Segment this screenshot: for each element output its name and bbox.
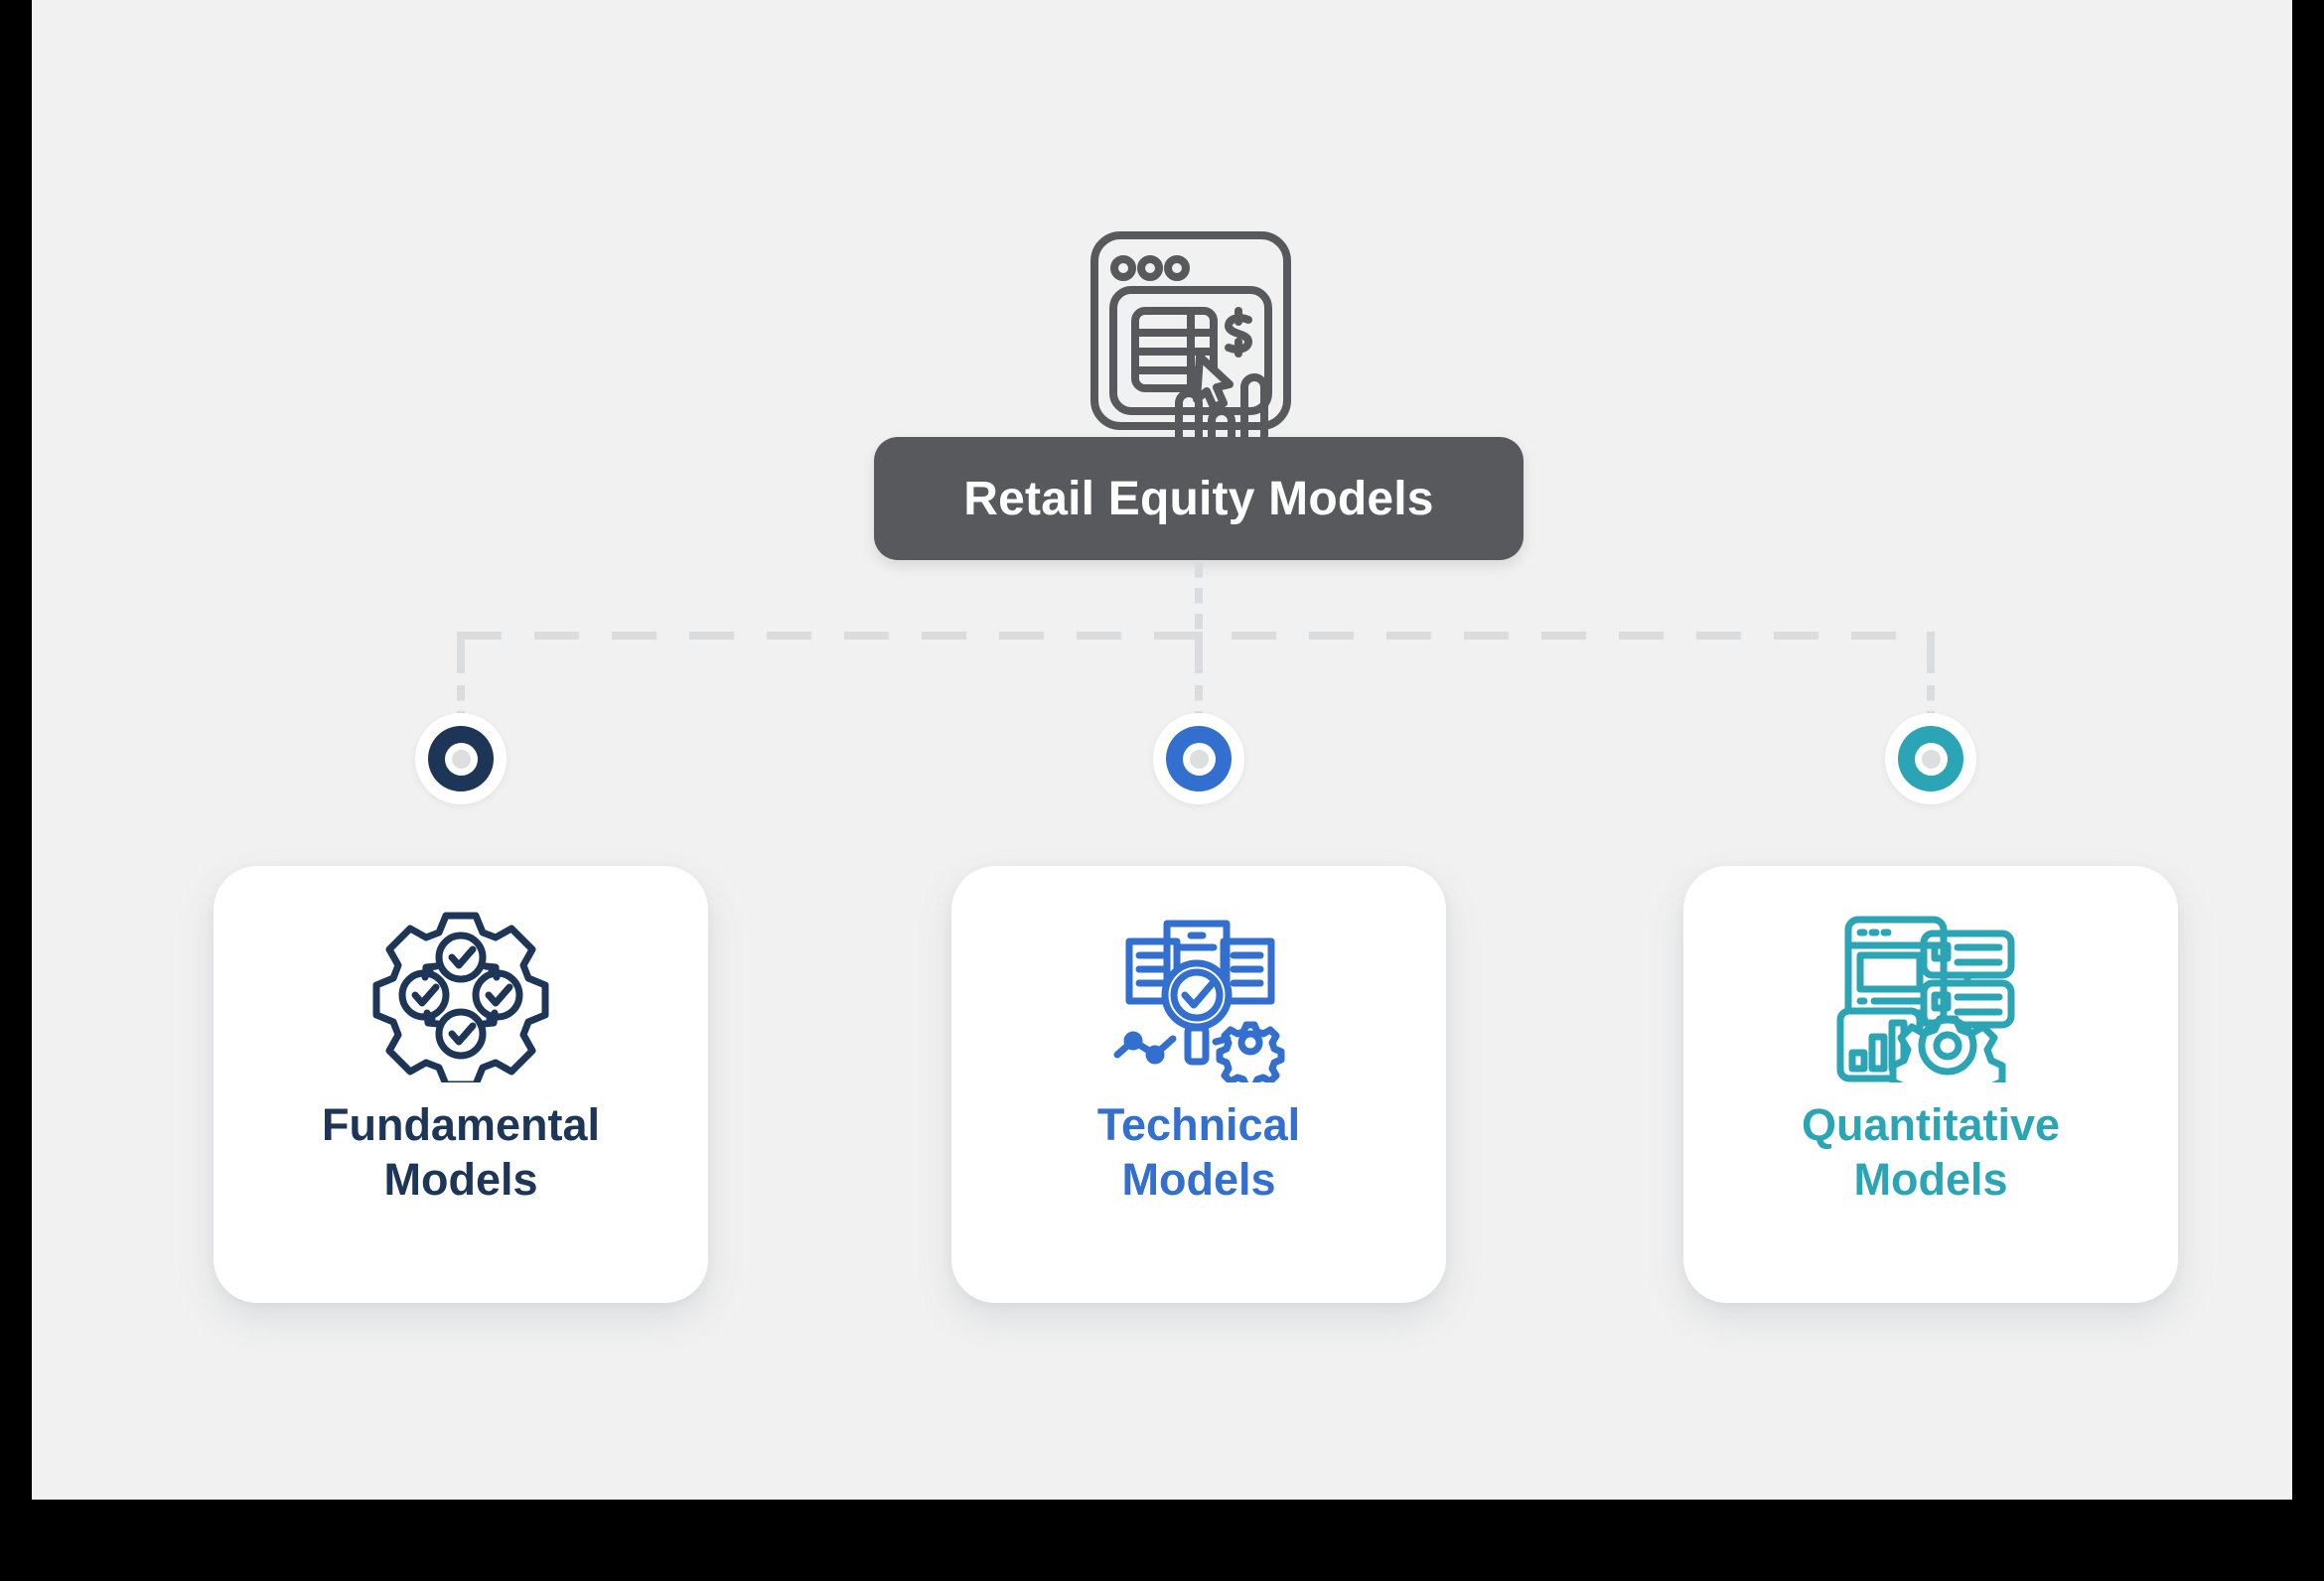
card-label-line2: Models [383,1154,537,1205]
connector-branch-center [1195,632,1203,673]
card-fundamental-models[interactable]: Fundamental Models [214,866,708,1303]
card-quantitative-models[interactable]: Quantitative Models [1683,866,2178,1303]
connector-root-stem [1195,562,1203,632]
card-label-line1: Fundamental [322,1099,600,1150]
connector-branch-right [1927,632,1935,673]
card-label-technical: Technical Models [976,1098,1421,1208]
node-marker-technical[interactable] [1153,713,1244,804]
node-marker-fundamental[interactable] [415,713,507,804]
node-marker-icon [1166,726,1232,791]
card-label-line2: Models [1121,1154,1275,1205]
card-label-line1: Technical [1097,1099,1300,1150]
browser-table-dollar-chart-icon [1088,228,1300,467]
node-marker-icon [1898,726,1963,791]
root-node-retail-equity-models[interactable]: Retail Equity Models [874,437,1524,560]
root-node-label: Retail Equity Models [963,472,1433,526]
card-label-line1: Quantitative [1802,1099,2060,1150]
documents-magnifier-check-gear-icon [1104,908,1293,1082]
node-marker-quantitative[interactable] [1885,713,1976,804]
node-marker-icon [428,726,494,791]
gear-checklist-cycle-icon [366,908,555,1082]
card-label-fundamental: Fundamental Models [238,1098,683,1208]
connector-branch-left [457,632,465,673]
card-technical-models[interactable]: Technical Models [951,866,1446,1303]
card-label-line2: Models [1853,1154,2007,1205]
card-label-quantitative: Quantitative Models [1708,1098,2153,1208]
diagram-canvas: Retail Equity Models [32,0,2292,1500]
dashboard-barchart-gear-icon [1836,908,2025,1082]
